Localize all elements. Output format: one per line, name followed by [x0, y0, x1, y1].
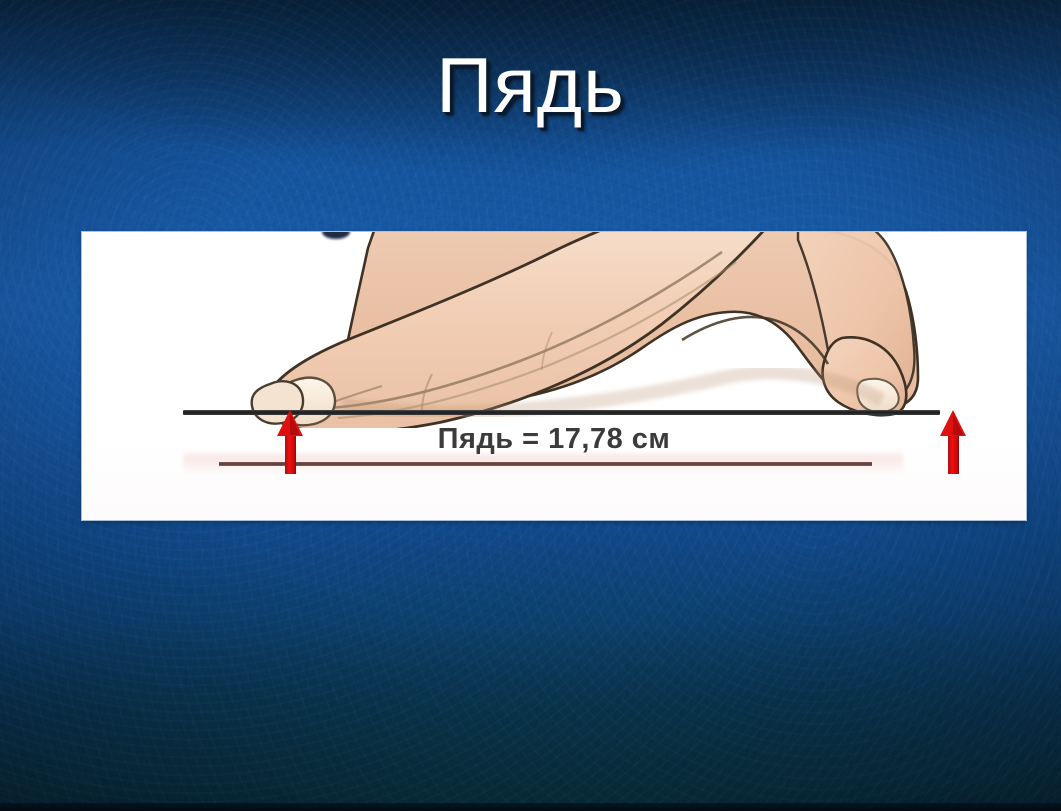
slide-bottom-edge — [0, 803, 1061, 811]
measurement-caption: Пядь = 17,78 см — [82, 423, 1026, 456]
illustration-canvas: Пядь = 17,78 см — [82, 232, 1026, 520]
slide-title: Пядь — [0, 46, 1061, 124]
presentation-slide: Пядь — [0, 0, 1061, 811]
hand-illustration — [82, 232, 1026, 428]
measure-line — [219, 462, 872, 466]
illustration-panel: Пядь = 17,78 см — [82, 232, 1026, 520]
